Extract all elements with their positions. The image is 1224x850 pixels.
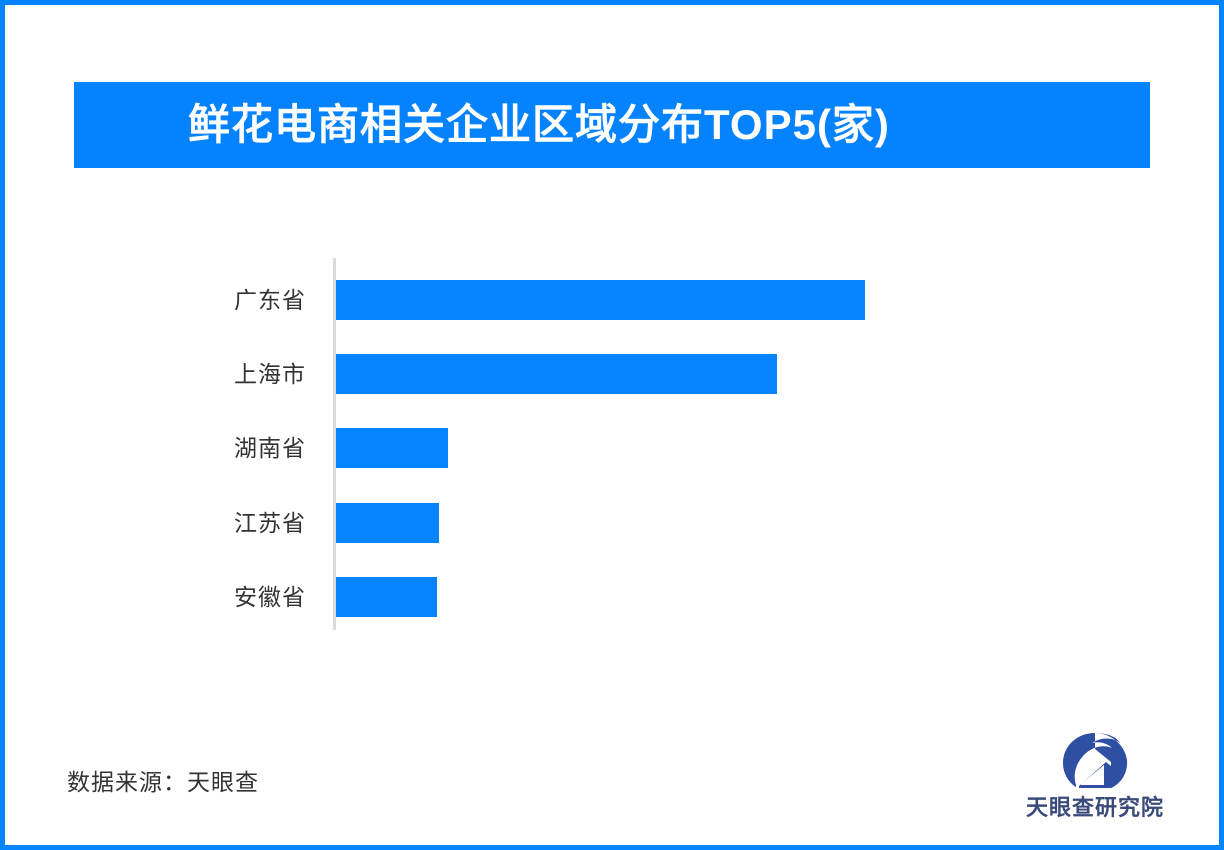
bar-row: 广东省	[5, 263, 1224, 337]
bar-track	[336, 354, 777, 394]
bar-value[interactable]	[336, 354, 777, 394]
bar-track	[336, 280, 865, 320]
bar-row: 安徽省	[5, 560, 1224, 634]
bar-track	[336, 428, 448, 468]
bar-row: 湖南省	[5, 411, 1224, 485]
data-source-note: 数据来源：天眼查	[67, 771, 259, 794]
brand-logo: 天眼查研究院	[1010, 732, 1180, 832]
bar-track	[336, 577, 437, 617]
bar-category-label: 江苏省	[135, 512, 306, 535]
bar-category-label: 上海市	[135, 363, 306, 386]
bar-category-label: 安徽省	[135, 586, 306, 609]
bar-chart: 广东省 上海市 湖南省 江苏省 安徽省	[5, 5, 1224, 850]
bar-value[interactable]	[336, 428, 448, 468]
bar-category-label: 广东省	[135, 289, 306, 312]
bar-value[interactable]	[336, 280, 865, 320]
bar-value[interactable]	[336, 577, 437, 617]
bar-track	[336, 503, 439, 543]
bar-row: 上海市	[5, 337, 1224, 411]
tianyancha-arch-logo-icon	[1059, 732, 1131, 794]
bar-category-label: 湖南省	[135, 437, 306, 460]
bar-value[interactable]	[336, 503, 439, 543]
brand-logo-label: 天眼查研究院	[1026, 797, 1164, 819]
bar-row: 江苏省	[5, 486, 1224, 560]
infographic-page: 鲜花电商相关企业区域分布TOP5(家) 广东省 上海市 湖南省	[0, 0, 1224, 850]
